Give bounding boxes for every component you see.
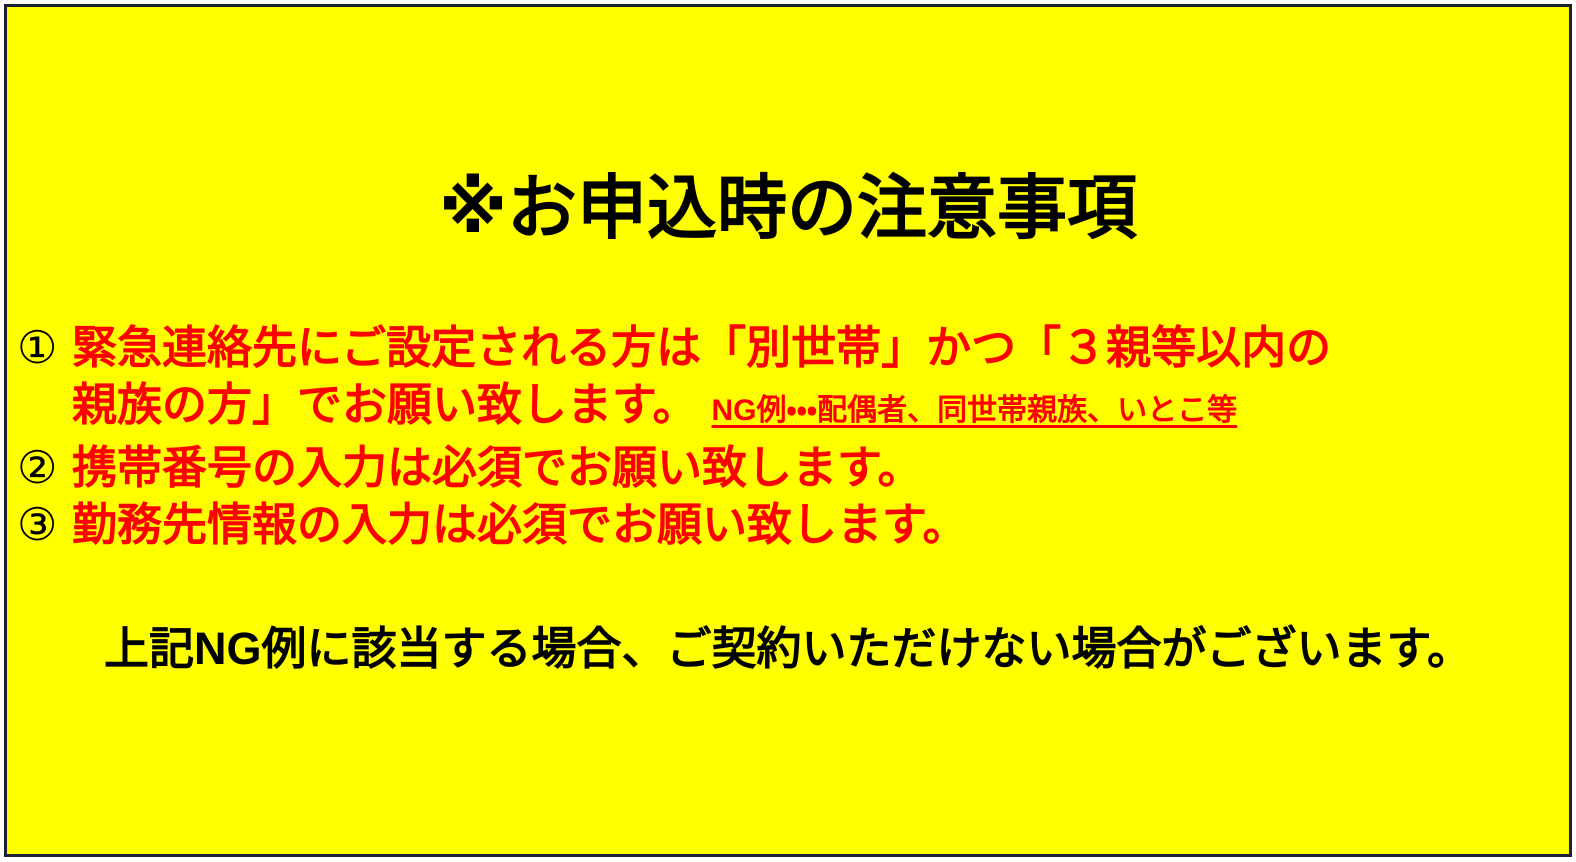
list-item: ① 緊急連絡先にご設定される方は「別世帯」かつ「３親等以内の 親族の方」でお願い…: [17, 319, 1565, 439]
footnote-text: 上記NG例に該当する場合、ご契約いただけない場合がございます。: [7, 619, 1569, 679]
list-item-line: 勤務先情報の入力は必須でお願い致します。: [72, 496, 1565, 553]
page-title: ※お申込時の注意事項: [7, 173, 1569, 243]
list-item-line: 緊急連絡先にご設定される方は「別世帯」かつ「３親等以内の: [72, 319, 1565, 376]
list-item: ③ 勤務先情報の入力は必須でお願い致します。: [17, 496, 1565, 553]
list-item: ② 携帯番号の入力は必須でお願い致します。: [17, 439, 1565, 496]
list-item-body: 緊急連絡先にご設定される方は「別世帯」かつ「３親等以内の 親族の方」でお願い致し…: [72, 319, 1565, 439]
list-item-body: 勤務先情報の入力は必須でお願い致します。: [72, 496, 1565, 553]
notice-panel: ※お申込時の注意事項 ① 緊急連絡先にご設定される方は「別世帯」かつ「３親等以内…: [4, 4, 1572, 857]
list-item-marker: ①: [17, 319, 72, 376]
list-item-line: 携帯番号の入力は必須でお願い致します。: [72, 439, 1565, 496]
list-item-line-text: 親族の方」でお願い致します。: [72, 379, 698, 430]
ng-example-note: NG例・・・配偶者、同世帯親族、いとこ等: [698, 394, 1238, 427]
notice-list: ① 緊急連絡先にご設定される方は「別世帯」かつ「３親等以内の 親族の方」でお願い…: [17, 319, 1565, 553]
list-item-body: 携帯番号の入力は必須でお願い致します。: [72, 439, 1565, 496]
list-item-marker: ③: [17, 496, 72, 553]
list-item-line-with-note: 親族の方」でお願い致します。NG例・・・配偶者、同世帯親族、いとこ等: [72, 376, 1565, 439]
list-item-marker: ②: [17, 439, 72, 496]
